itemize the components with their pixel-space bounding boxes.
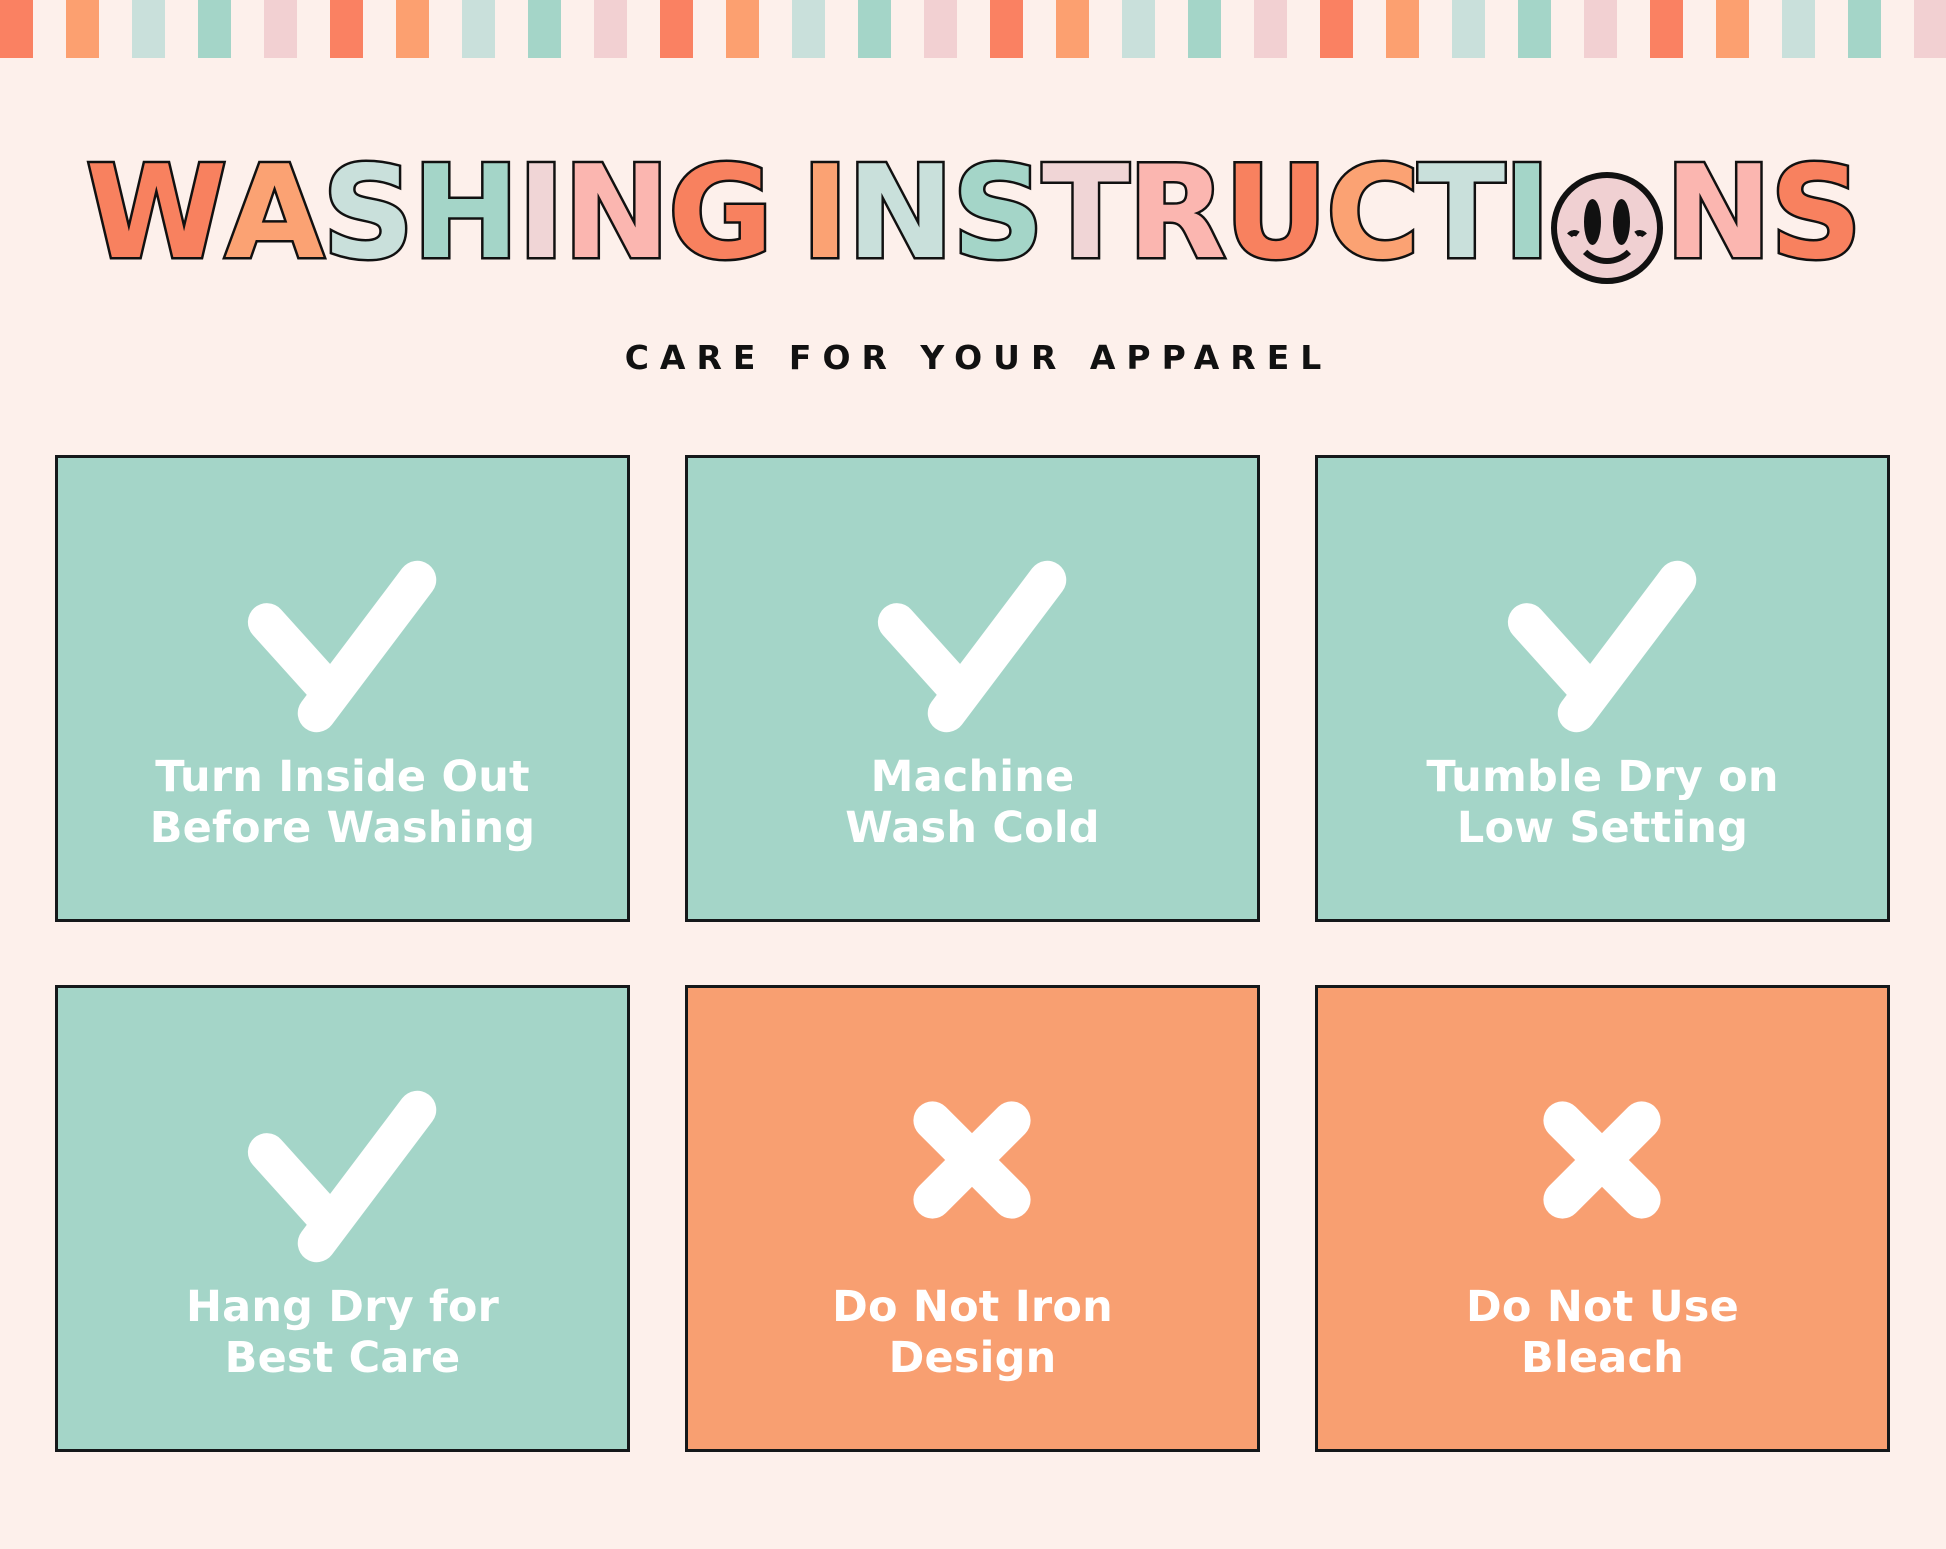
title-letter: N — [563, 150, 668, 278]
stripe-segment — [1188, 0, 1221, 58]
stripe-gap — [891, 0, 924, 58]
stripe-gap — [495, 0, 528, 58]
title-letter: C — [1326, 150, 1418, 278]
stripe-segment — [990, 0, 1023, 58]
check-icon — [875, 550, 1070, 710]
stripe-gap — [231, 0, 264, 58]
stripe-segment — [1254, 0, 1287, 58]
stripe-segment — [1650, 0, 1683, 58]
title-letter: S — [952, 150, 1042, 278]
stripe-segment — [726, 0, 759, 58]
title-letter: N — [847, 150, 952, 278]
stripe-gap — [1683, 0, 1716, 58]
stripe-segment — [1386, 0, 1419, 58]
stripe-gap — [363, 0, 396, 58]
smiley-mouth — [1573, 224, 1641, 264]
stripe-gap — [297, 0, 330, 58]
title-letter: U — [1224, 150, 1326, 278]
title-letter: S — [1770, 150, 1860, 278]
care-instruction-card: Do Not IronDesign — [685, 985, 1260, 1452]
cross-icon — [1505, 1080, 1700, 1240]
stripe-gap — [1221, 0, 1254, 58]
stripe-gap — [33, 0, 66, 58]
stripe-gap — [957, 0, 990, 58]
stripe-segment — [660, 0, 693, 58]
title-letter: R — [1127, 150, 1224, 278]
card-label-line2: Wash Cold — [704, 803, 1241, 854]
card-label: MachineWash Cold — [688, 752, 1257, 853]
stripe-segment — [1716, 0, 1749, 58]
title-letter: I — [517, 150, 563, 278]
card-label-line1: Hang Dry for — [186, 1282, 499, 1332]
stripe-gap — [1155, 0, 1188, 58]
check-icon — [875, 550, 1070, 710]
check-icon — [245, 550, 440, 710]
card-label-line1: Turn Inside Out — [155, 752, 530, 802]
card-label: Do Not UseBleach — [1318, 1282, 1887, 1383]
stripe-segment — [198, 0, 231, 58]
stripe-gap — [1353, 0, 1386, 58]
check-icon — [1505, 550, 1700, 710]
stripe-segment — [396, 0, 429, 58]
page-subtitle: CARE FOR YOUR APPAREL — [0, 338, 1946, 377]
stripe-segment — [1518, 0, 1551, 58]
title-letter: I — [1503, 150, 1549, 278]
stripe-segment — [462, 0, 495, 58]
stripe-segment — [792, 0, 825, 58]
stripe-gap — [1617, 0, 1650, 58]
stripe-gap — [759, 0, 792, 58]
check-icon — [245, 1080, 440, 1240]
card-label-line1: Do Not Iron — [832, 1282, 1113, 1332]
card-label-line2: Design — [704, 1333, 1241, 1384]
card-label-line1: Tumble Dry on — [1426, 752, 1778, 802]
card-label-line2: Best Care — [74, 1333, 611, 1384]
stripe-segment — [1452, 0, 1485, 58]
stripe-segment — [1056, 0, 1089, 58]
card-label-line1: Do Not Use — [1466, 1282, 1739, 1332]
stripe-segment — [1122, 0, 1155, 58]
stripe-gap — [1749, 0, 1782, 58]
stripe-gap — [1551, 0, 1584, 58]
title-letter: I — [801, 150, 847, 278]
cross-icon — [875, 1080, 1070, 1240]
stripe-gap — [1485, 0, 1518, 58]
stripe-segment — [1320, 0, 1353, 58]
washing-instructions-poster: WASHINGINSTRUCTINS CARE FOR YOUR APPAREL… — [0, 0, 1946, 1549]
smiley-mouth-curl-right — [1630, 229, 1650, 245]
stripe-gap — [429, 0, 462, 58]
stripe-segment — [66, 0, 99, 58]
title-letter: S — [322, 150, 412, 278]
stripe-segment — [264, 0, 297, 58]
card-label-line2: Low Setting — [1334, 803, 1871, 854]
check-icon — [1505, 550, 1700, 710]
card-label-line2: Bleach — [1334, 1333, 1871, 1384]
smiley-face-icon — [1551, 172, 1663, 284]
stripe-gap — [1287, 0, 1320, 58]
stripe-gap — [99, 0, 132, 58]
care-instruction-card: Tumble Dry onLow Setting — [1315, 455, 1890, 922]
stripe-segment — [132, 0, 165, 58]
title-letter: H — [412, 150, 517, 278]
decorative-stripe-border — [0, 0, 1946, 58]
stripe-segment — [330, 0, 363, 58]
page-title: WASHINGINSTRUCTINS — [0, 150, 1946, 278]
care-instruction-grid: Turn Inside OutBefore WashingMachineWash… — [55, 455, 1891, 1452]
card-label-line1: Machine — [871, 752, 1075, 802]
stripe-segment — [0, 0, 33, 58]
stripe-gap — [165, 0, 198, 58]
care-instruction-card: Do Not UseBleach — [1315, 985, 1890, 1452]
cross-icon — [1527, 1085, 1677, 1235]
stripe-gap — [1089, 0, 1122, 58]
card-label-line2: Before Washing — [74, 803, 611, 854]
stripe-segment — [594, 0, 627, 58]
title-letter: T — [1042, 150, 1127, 278]
stripe-gap — [627, 0, 660, 58]
cross-icon — [897, 1085, 1047, 1235]
stripe-gap — [693, 0, 726, 58]
stripe-segment — [924, 0, 957, 58]
title-letter: G — [668, 150, 771, 278]
card-label: Tumble Dry onLow Setting — [1318, 752, 1887, 853]
stripe-gap — [1419, 0, 1452, 58]
stripe-segment — [528, 0, 561, 58]
stripe-gap — [1815, 0, 1848, 58]
stripe-gap — [1023, 0, 1056, 58]
check-icon — [245, 1080, 440, 1240]
card-label: Do Not IronDesign — [688, 1282, 1257, 1383]
stripe-segment — [858, 0, 891, 58]
care-instruction-card: Hang Dry forBest Care — [55, 985, 630, 1452]
stripe-segment — [1848, 0, 1881, 58]
stripe-segment — [1782, 0, 1815, 58]
stripe-gap — [825, 0, 858, 58]
stripe-segment — [1584, 0, 1617, 58]
card-label: Hang Dry forBest Care — [58, 1282, 627, 1383]
check-icon — [245, 550, 440, 710]
stripe-gap — [1881, 0, 1914, 58]
care-instruction-card: Turn Inside OutBefore Washing — [55, 455, 630, 922]
title-letter: N — [1665, 150, 1770, 278]
care-instruction-card: MachineWash Cold — [685, 455, 1260, 922]
title-letter: A — [225, 150, 322, 278]
title-letter: T — [1418, 150, 1503, 278]
card-label: Turn Inside OutBefore Washing — [58, 752, 627, 853]
title-letter: W — [86, 150, 225, 278]
stripe-segment — [1914, 0, 1946, 58]
stripe-gap — [561, 0, 594, 58]
